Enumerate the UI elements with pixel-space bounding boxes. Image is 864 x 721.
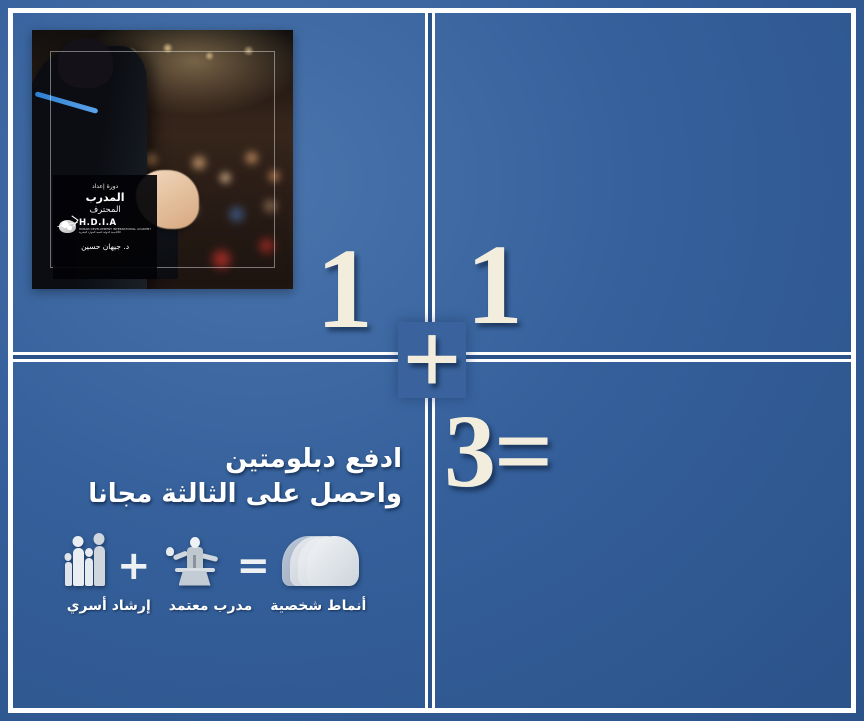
family-adult-2 bbox=[73, 548, 84, 586]
offer-line-1: ادفع دبلومتين bbox=[13, 443, 402, 476]
offer-headline: ادفع دبلومتين واحصل على الثالثة مجانا bbox=[13, 443, 402, 512]
head-profile-4 bbox=[307, 536, 359, 586]
trainer-left-arm bbox=[172, 550, 188, 560]
trainer-right-arm bbox=[200, 553, 218, 562]
logo-subtitle-ar: الأكاديمية الدولية لتنمية الموارد البشري… bbox=[79, 232, 151, 235]
globe-icon bbox=[59, 220, 76, 233]
family-silhouette-icon bbox=[65, 546, 105, 586]
offer-icon-labels: إرشاد أسري مدرب معتمد أنماط شخصية bbox=[13, 598, 420, 614]
card-presenter: د. جيهان حسين bbox=[81, 242, 129, 251]
equation-digit-one-first: 1 bbox=[316, 232, 373, 346]
icon-label-family-counseling: إرشاد أسري bbox=[67, 598, 151, 614]
card-title-second-line: المحترف bbox=[89, 205, 120, 215]
logo-name: H.D.I.A bbox=[79, 219, 151, 228]
family-child-2 bbox=[65, 562, 72, 586]
trainer-tie bbox=[193, 555, 196, 568]
card-caption-block: دورة إعداد المدرب المحترف H.D.I.A HUMAN … bbox=[53, 175, 157, 279]
promo-poster: دورة إعداد المدرب المحترف H.D.I.A HUMAN … bbox=[0, 0, 864, 721]
offer-icon-row: + = bbox=[13, 534, 420, 586]
icon-label-certified-trainer: مدرب معتمد bbox=[169, 598, 253, 614]
panel-bottom-left-offer: ادفع دبلومتين واحصل على الثالثة مجانا + bbox=[13, 367, 420, 708]
course-card-professional-trainer[interactable]: دورة إعداد المدرب المحترف H.D.I.A HUMAN … bbox=[32, 30, 293, 289]
family-child-1 bbox=[85, 558, 93, 586]
card-title: المدرب bbox=[86, 191, 125, 204]
hdia-logo: H.D.I.A HUMAN DEVELOPMENT INTERNATIONAL … bbox=[59, 219, 151, 235]
equation-result: =3 bbox=[444, 400, 551, 504]
equation-digit-one-second: 1 bbox=[466, 228, 523, 342]
stacked-head-profiles-icon bbox=[282, 534, 368, 586]
icon-label-personality-types: أنماط شخصية bbox=[270, 598, 366, 614]
offer-line-2: واحصل على الثالثة مجانا bbox=[13, 478, 402, 511]
card-kicker: دورة إعداد bbox=[92, 183, 118, 190]
trainer-head bbox=[190, 537, 200, 548]
podium-base bbox=[179, 571, 211, 586]
trainer-hand bbox=[166, 547, 174, 556]
icon-plus-sign: + bbox=[117, 550, 151, 582]
equation-plus-sign: + bbox=[398, 322, 466, 398]
family-adult-1 bbox=[94, 546, 105, 586]
icon-equals-sign: = bbox=[237, 550, 271, 582]
trainer-podium-icon bbox=[163, 536, 225, 586]
